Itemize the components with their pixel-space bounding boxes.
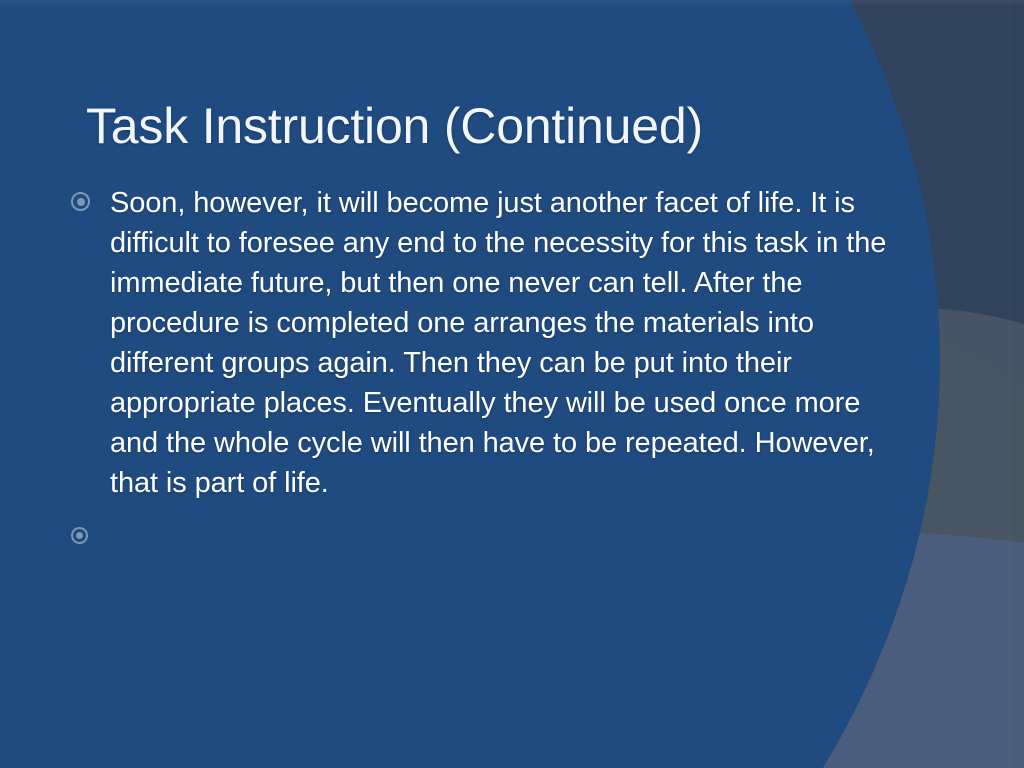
list-item: Soon, however, it will become just anoth… [62,183,892,503]
body-bullet-list: Soon, however, it will become just anoth… [62,183,892,573]
slide-content: Task Instruction (Continued) Soon, howev… [0,0,1024,768]
list-item [62,521,892,555]
list-item-label: Soon, however, it will become just anoth… [110,187,886,499]
target-ring-bullet-icon [71,527,88,544]
slide-canvas: Task Instruction (Continued) Soon, howev… [0,0,1024,768]
slide-title: Task Instruction (Continued) [86,98,946,154]
target-ring-bullet-icon [71,192,90,211]
